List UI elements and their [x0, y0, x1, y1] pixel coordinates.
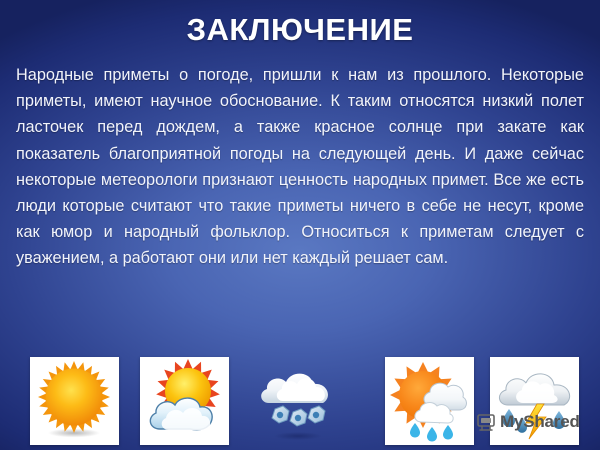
body-paragraph: Народные приметы о погоде, пришли к нам …	[16, 62, 584, 272]
weather-icon-row	[0, 355, 600, 450]
slide-body-text: Народные приметы о погоде, пришли к нам …	[16, 62, 584, 272]
weather-icon-card-sun	[30, 357, 119, 445]
watermark-label: MyShared	[500, 412, 580, 432]
sun-behind-rain-cloud-icon	[385, 357, 474, 445]
weather-icon-card-sun-rain	[385, 357, 474, 445]
cloud-with-hail-icon	[253, 357, 342, 445]
page-title: ЗАКЛЮЧЕНИЕ	[187, 12, 414, 48]
slide-title-bar: ЗАКЛЮЧЕНИЕ	[0, 12, 600, 48]
sun-behind-cloud-icon	[140, 357, 229, 445]
myshared-watermark: MyShared	[476, 410, 580, 434]
myshared-logo-icon	[476, 412, 496, 432]
sun-icon	[30, 357, 119, 445]
weather-icon-card-hail	[253, 357, 342, 445]
presentation-slide: ЗАКЛЮЧЕНИЕ Народные приметы о погоде, пр…	[0, 0, 600, 450]
weather-icon-card-partly-cloudy	[140, 357, 229, 445]
